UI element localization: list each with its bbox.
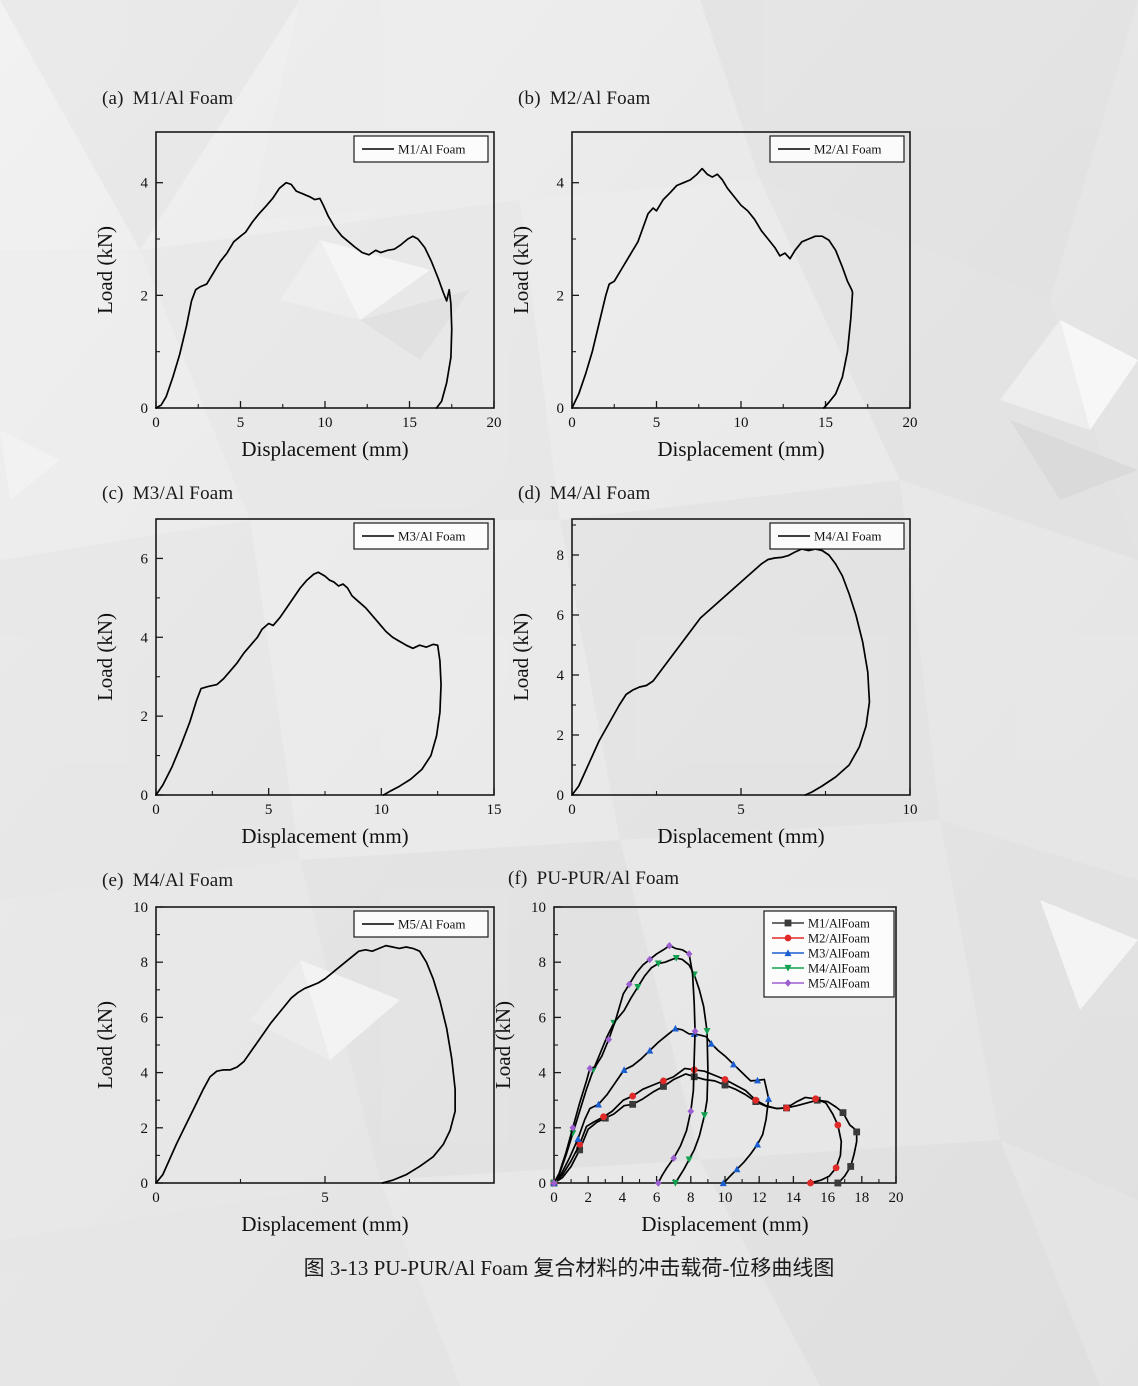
- x-tick-label: 10: [374, 802, 389, 818]
- data-point-marker: [754, 1141, 761, 1148]
- y-axis-title: Load (kN): [93, 226, 117, 314]
- data-point-marker: [785, 935, 791, 941]
- data-point-marker: [686, 950, 693, 957]
- y-tick-label: 4: [557, 176, 565, 192]
- data-point-marker: [600, 1114, 606, 1120]
- x-tick-label: 0: [568, 802, 576, 818]
- data-point-marker: [630, 1101, 636, 1107]
- y-tick-label: 8: [539, 955, 547, 971]
- x-tick-label: 5: [737, 802, 745, 818]
- series-markers-M3AlFoam: [551, 1025, 773, 1186]
- y-tick-label: 6: [141, 1010, 149, 1026]
- y-tick-label: 10: [133, 900, 148, 916]
- plot-frame: [156, 132, 494, 408]
- series-line-M3AlFoam: [554, 1028, 769, 1183]
- x-tick-label: 12: [752, 1190, 767, 1206]
- panel-e-title: (e)M4/Al Foam: [102, 870, 233, 892]
- x-tick-label: 10: [734, 415, 749, 431]
- series-markers-M2AlFoam: [551, 1067, 841, 1186]
- x-tick-label: 18: [854, 1190, 869, 1206]
- y-axis-title: Load (kN): [93, 1001, 117, 1089]
- x-tick-label: 20: [487, 415, 502, 431]
- data-point-marker: [753, 1097, 759, 1103]
- plot-e: 050246810Displacement (mm)Load (kN)M5/Al…: [102, 893, 512, 1243]
- legend-label: M3/Al Foam: [398, 529, 466, 544]
- panel-d-title: (d)M4/Al Foam: [518, 483, 650, 505]
- series-markers-M4AlFoam: [551, 955, 711, 1187]
- y-tick-label: 0: [141, 401, 149, 417]
- data-point-marker: [835, 1180, 841, 1186]
- legend-label: M2/AlFoam: [808, 932, 870, 946]
- x-axis-title: Displacement (mm): [657, 824, 824, 848]
- data-point-marker: [813, 1096, 819, 1102]
- chart-a: 05101520024Displacement (mm)Load (kN)M1/…: [102, 118, 512, 468]
- panel-c-tag: (c): [102, 483, 124, 504]
- panel-c: (c)M3/Al Foam: [102, 483, 233, 505]
- x-tick-label: 20: [889, 1190, 904, 1206]
- plot-frame: [572, 519, 910, 795]
- panel-b: (b)M2/Al Foam: [518, 88, 650, 110]
- panel-b-title: (b)M2/Al Foam: [518, 88, 650, 110]
- y-axis-title: Load (kN): [509, 613, 533, 701]
- panel-e-tag: (e): [102, 870, 124, 891]
- panel-a-tag: (a): [102, 88, 124, 109]
- panel-f: (f)PU-PUR/Al Foam: [508, 868, 679, 890]
- chart-b: 05101520024Displacement (mm)Load (kN)M2/…: [518, 118, 928, 468]
- x-tick-label: 10: [903, 802, 918, 818]
- x-tick-label: 5: [653, 415, 661, 431]
- data-point-marker: [848, 1163, 854, 1169]
- series-markers-M1AlFoam: [551, 1074, 860, 1186]
- data-point-marker: [765, 1095, 772, 1102]
- x-tick-label: 15: [402, 415, 417, 431]
- y-tick-label: 10: [531, 900, 546, 916]
- panel-a: (a)M1/Al Foam: [102, 88, 233, 110]
- panel-f-tag: (f): [508, 868, 528, 889]
- data-point-marker: [660, 1078, 666, 1084]
- y-tick-label: 0: [141, 1176, 149, 1192]
- y-tick-label: 8: [141, 955, 149, 971]
- legend-label: M3/AlFoam: [808, 947, 870, 961]
- panel-d-tag: (d): [518, 483, 541, 504]
- series-line-M2AlFoam: [554, 1068, 841, 1183]
- x-tick-label: 0: [152, 802, 160, 818]
- series-line-M3AlFoam: [156, 572, 441, 795]
- x-axis-title: Displacement (mm): [241, 437, 408, 461]
- figure-panel-grid: (a)M1/Al Foam 05101520024Displacement (m…: [0, 0, 1138, 1386]
- y-tick-label: 0: [557, 401, 565, 417]
- y-tick-label: 6: [141, 551, 149, 567]
- panel-d-label: M4/Al Foam: [550, 483, 651, 504]
- y-tick-label: 0: [557, 788, 565, 804]
- x-tick-label: 20: [903, 415, 918, 431]
- data-point-marker: [785, 920, 791, 926]
- data-point-marker: [854, 1129, 860, 1135]
- data-point-marker: [686, 1156, 693, 1163]
- panel-b-tag: (b): [518, 88, 541, 109]
- series-line-M1AlFoam: [554, 1074, 857, 1183]
- data-point-marker: [574, 1135, 581, 1142]
- x-tick-label: 15: [487, 802, 502, 818]
- y-tick-label: 4: [141, 630, 149, 646]
- chart-d: 051002468Displacement (mm)Load (kN)M4/Al…: [518, 505, 928, 855]
- y-axis-title: Load (kN): [93, 613, 117, 701]
- panel-f-title: (f)PU-PUR/Al Foam: [508, 868, 679, 890]
- data-point-marker: [577, 1141, 583, 1147]
- panel-e: (e)M4/Al Foam: [102, 870, 233, 892]
- panel-a-label: M1/Al Foam: [133, 88, 234, 109]
- data-point-marker: [630, 1093, 636, 1099]
- plot-d: 051002468Displacement (mm)Load (kN)M4/Al…: [518, 505, 928, 855]
- x-axis-title: Displacement (mm): [657, 437, 824, 461]
- plot-f: 024681012141618200246810Displacement (mm…: [508, 893, 918, 1243]
- y-axis-title: Load (kN): [491, 1001, 515, 1089]
- y-tick-label: 4: [539, 1066, 547, 1082]
- y-tick-label: 2: [539, 1121, 547, 1137]
- data-point-marker: [835, 1122, 841, 1128]
- y-tick-label: 2: [557, 288, 565, 304]
- y-tick-label: 6: [539, 1010, 547, 1026]
- data-point-marker: [807, 1180, 813, 1186]
- x-tick-label: 5: [237, 415, 245, 431]
- data-point-marker: [783, 1105, 789, 1111]
- panel-a-title: (a)M1/Al Foam: [102, 88, 233, 110]
- x-tick-label: 0: [152, 415, 160, 431]
- x-axis-title: Displacement (mm): [241, 824, 408, 848]
- panel-e-label: M4/Al Foam: [133, 870, 234, 891]
- x-tick-label: 6: [653, 1190, 661, 1206]
- data-point-marker: [840, 1110, 846, 1116]
- x-tick-label: 8: [687, 1190, 695, 1206]
- data-point-marker: [688, 1108, 695, 1115]
- plot-frame: [156, 519, 494, 795]
- series-line-M4AlFoam: [572, 549, 869, 795]
- series-line-M5AlFoam: [554, 946, 695, 1183]
- y-tick-label: 2: [557, 728, 565, 744]
- panel-d: (d)M4/Al Foam: [518, 483, 650, 505]
- panel-c-label: M3/Al Foam: [133, 483, 234, 504]
- y-tick-label: 4: [557, 668, 565, 684]
- plot-frame: [156, 907, 494, 1183]
- plot-a: 05101520024Displacement (mm)Load (kN)M1/…: [102, 118, 512, 468]
- y-tick-label: 0: [141, 788, 149, 804]
- x-tick-label: 5: [321, 1190, 329, 1206]
- legend-label: M5/Al Foam: [398, 917, 466, 932]
- x-tick-label: 10: [318, 415, 333, 431]
- y-tick-label: 2: [141, 709, 149, 725]
- x-tick-label: 15: [818, 415, 833, 431]
- chart-e: 050246810Displacement (mm)Load (kN)M5/Al…: [102, 893, 512, 1243]
- y-axis-title: Load (kN): [509, 226, 533, 314]
- legend-label: M4/AlFoam: [808, 962, 870, 976]
- x-axis-title: Displacement (mm): [241, 1212, 408, 1236]
- series-line-M5AlFoam: [156, 946, 455, 1183]
- y-tick-label: 6: [557, 608, 565, 624]
- x-tick-label: 5: [265, 802, 273, 818]
- legend-label: M1/Al Foam: [398, 142, 466, 157]
- y-tick-label: 4: [141, 1066, 149, 1082]
- legend-label: M2/Al Foam: [814, 142, 882, 157]
- panel-f-label: PU-PUR/Al Foam: [537, 868, 680, 889]
- x-tick-label: 4: [619, 1190, 627, 1206]
- chart-c: 0510150246Displacement (mm)Load (kN)M3/A…: [102, 505, 512, 855]
- panel-b-label: M2/Al Foam: [550, 88, 651, 109]
- y-tick-label: 2: [141, 288, 149, 304]
- data-point-marker: [722, 1076, 728, 1082]
- x-tick-label: 10: [718, 1190, 733, 1206]
- series-line-M1AlFoam: [156, 183, 452, 408]
- data-point-marker: [704, 1028, 711, 1035]
- data-point-marker: [833, 1165, 839, 1171]
- figure-caption: 图 3-13 PU-PUR/Al Foam 复合材料的冲击载荷-位移曲线图: [0, 1252, 1138, 1282]
- y-tick-label: 0: [539, 1176, 547, 1192]
- data-point-marker: [701, 1112, 708, 1119]
- legend-label: M5/AlFoam: [808, 977, 870, 991]
- legend-label: M4/Al Foam: [814, 529, 882, 544]
- x-tick-label: 0: [152, 1190, 160, 1206]
- plot-frame: [572, 132, 910, 408]
- x-tick-label: 0: [550, 1190, 558, 1206]
- panel-c-title: (c)M3/Al Foam: [102, 483, 233, 505]
- series-line-M2AlFoam: [572, 169, 853, 408]
- plot-b: 05101520024Displacement (mm)Load (kN)M2/…: [518, 118, 928, 468]
- plot-c: 0510150246Displacement (mm)Load (kN)M3/A…: [102, 505, 512, 855]
- chart-f: 024681012141618200246810Displacement (mm…: [508, 893, 918, 1243]
- y-tick-label: 2: [141, 1121, 149, 1137]
- y-tick-label: 8: [557, 548, 565, 564]
- y-tick-label: 4: [141, 176, 149, 192]
- x-tick-label: 16: [820, 1190, 836, 1206]
- legend-label: M1/AlFoam: [808, 917, 870, 931]
- x-tick-label: 0: [568, 415, 576, 431]
- x-axis-title: Displacement (mm): [641, 1212, 808, 1236]
- x-tick-label: 2: [584, 1190, 592, 1206]
- x-tick-label: 14: [786, 1190, 802, 1206]
